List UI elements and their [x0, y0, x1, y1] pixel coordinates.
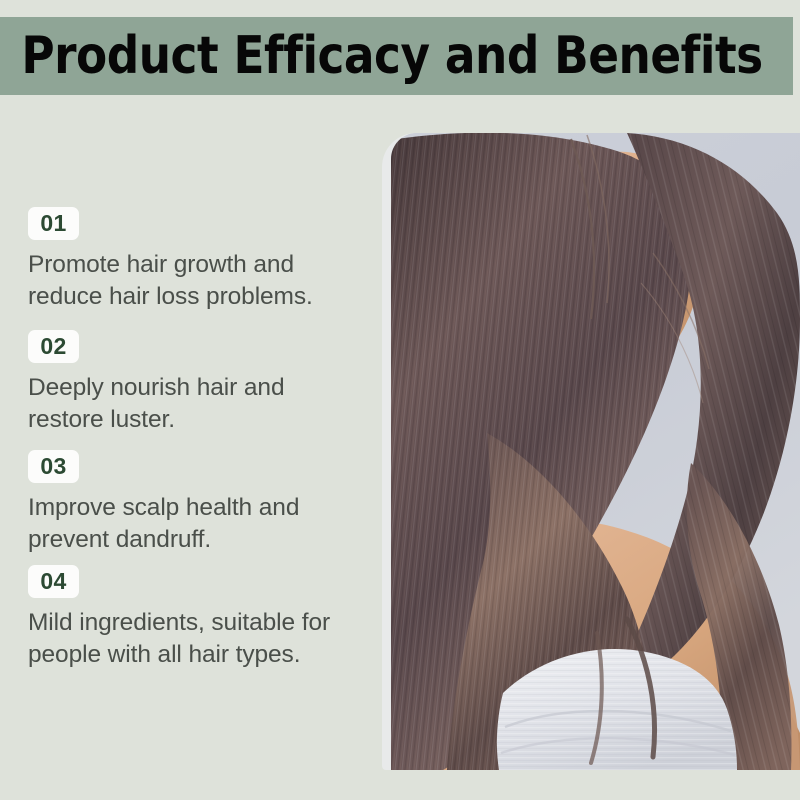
benefit-badge-04: 04	[28, 565, 79, 598]
benefit-text-04: Mild ingredients, suitable for people wi…	[28, 607, 348, 672]
photo-frame	[391, 133, 800, 770]
benefit-text-02: Deeply nourish hair and restore luster.	[28, 372, 348, 437]
benefit-item-01: 01 Promote hair growth and reduce hair l…	[28, 207, 358, 314]
benefits-list: 01 Promote hair growth and reduce hair l…	[0, 133, 370, 773]
benefit-badge-01: 01	[28, 207, 79, 240]
model-photo	[391, 133, 800, 770]
benefit-item-02: 02 Deeply nourish hair and restore luste…	[28, 330, 358, 437]
benefit-badge-02: 02	[28, 330, 79, 363]
benefit-item-03: 03 Improve scalp health and prevent dand…	[28, 450, 358, 557]
benefit-badge-03: 03	[28, 450, 79, 483]
infographic-page: Product Efficacy and Benefits 01 Promote…	[0, 0, 800, 800]
benefit-item-04: 04 Mild ingredients, suitable for people…	[28, 565, 358, 672]
benefit-text-01: Promote hair growth and reduce hair loss…	[28, 249, 348, 314]
header-band: Product Efficacy and Benefits	[0, 17, 793, 95]
benefit-text-03: Improve scalp health and prevent dandruf…	[28, 492, 348, 557]
page-title: Product Efficacy and Benefits	[0, 30, 763, 82]
photo-panel	[382, 133, 800, 770]
